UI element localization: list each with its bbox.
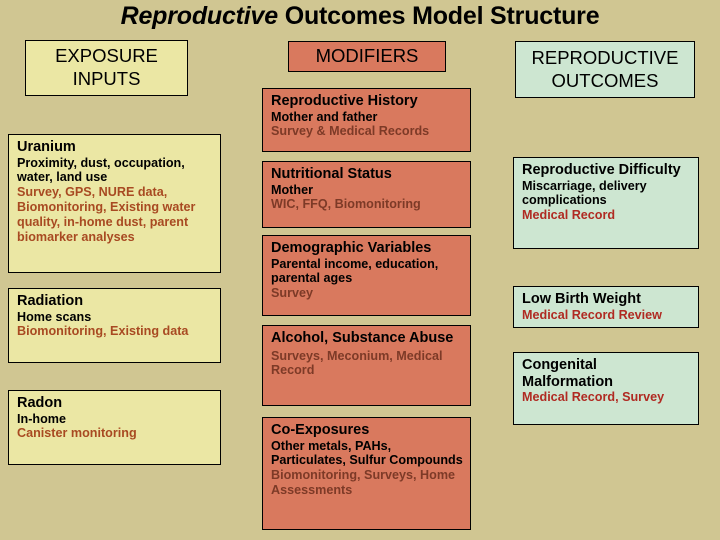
modifier-box-co-exposures-title: Co-Exposures xyxy=(271,422,463,439)
outcome-box-reproductive-difficulty-detail: Miscarriage, delivery complications xyxy=(522,179,691,209)
outcome-box-low-birth-weight-source: Medical Record Review xyxy=(522,308,691,323)
exposure-box-radiation-source: Biomonitoring, Existing data xyxy=(17,324,213,339)
modifier-box-alcohol-substance-abuse-source: Surveys, Meconium, Medical Record xyxy=(271,349,463,379)
modifier-box-nutritional-status-source: WIC, FFQ, Biomonitoring xyxy=(271,197,463,212)
page-title-emphasis: Reproductive xyxy=(121,2,278,30)
outcome-box-low-birth-weight-title: Low Birth Weight xyxy=(522,291,691,308)
header-modifiers[interactable]: MODIFIERS xyxy=(288,41,446,72)
modifier-box-alcohol-substance-abuse[interactable]: Alcohol, Substance Abuse Surveys, Meconi… xyxy=(262,325,471,406)
modifier-box-reproductive-history-title: Reproductive History xyxy=(271,93,463,110)
exposure-box-radon[interactable]: Radon In-home Canister monitoring xyxy=(8,390,221,465)
modifier-box-co-exposures[interactable]: Co-Exposures Other metals, PAHs, Particu… xyxy=(262,417,471,530)
modifier-box-nutritional-status-title: Nutritional Status xyxy=(271,166,463,183)
outcome-box-reproductive-difficulty-source: Medical Record xyxy=(522,208,691,223)
exposure-box-uranium-title: Uranium xyxy=(17,139,213,156)
outcome-box-reproductive-difficulty[interactable]: Reproductive Difficulty Miscarriage, del… xyxy=(513,157,699,249)
exposure-box-radiation-detail: Home scans xyxy=(17,310,213,325)
modifier-box-reproductive-history-source: Survey & Medical Records xyxy=(271,124,463,139)
exposure-box-radon-title: Radon xyxy=(17,395,213,412)
exposure-box-radon-source: Canister monitoring xyxy=(17,426,213,441)
modifier-box-demographic-variables-detail: Parental income, education, parental age… xyxy=(271,257,463,287)
exposure-box-radiation[interactable]: Radiation Home scans Biomonitoring, Exis… xyxy=(8,288,221,363)
page-title: Reproductive Outcomes Model Structure xyxy=(0,2,720,31)
header-reproductive-outcomes[interactable]: REPRODUCTIVE OUTCOMES xyxy=(515,41,695,98)
outcome-box-congenital-malformation-title: Congenital Malformation xyxy=(522,357,691,390)
modifier-box-alcohol-substance-abuse-title: Alcohol, Substance Abuse xyxy=(271,330,463,347)
modifier-box-demographic-variables-title: Demographic Variables xyxy=(271,240,463,257)
exposure-box-uranium-source: Survey, GPS, NURE data, Biomonitoring, E… xyxy=(17,185,213,244)
header-exposure-inputs[interactable]: EXPOSURE INPUTS xyxy=(25,40,188,96)
modifier-box-demographic-variables[interactable]: Demographic Variables Parental income, e… xyxy=(262,235,471,316)
modifier-box-reproductive-history-detail: Mother and father xyxy=(271,110,463,125)
outcome-box-congenital-malformation-source: Medical Record, Survey xyxy=(522,390,691,405)
outcome-box-reproductive-difficulty-title: Reproductive Difficulty xyxy=(522,162,691,179)
outcome-box-congenital-malformation[interactable]: Congenital Malformation Medical Record, … xyxy=(513,352,699,425)
header-exposure-inputs-label: EXPOSURE INPUTS xyxy=(26,45,187,91)
header-reproductive-outcomes-label: REPRODUCTIVE OUTCOMES xyxy=(516,47,694,93)
exposure-box-radiation-title: Radiation xyxy=(17,293,213,310)
exposure-box-uranium[interactable]: Uranium Proximity, dust, occupation, wat… xyxy=(8,134,221,273)
modifier-box-nutritional-status[interactable]: Nutritional Status Mother WIC, FFQ, Biom… xyxy=(262,161,471,228)
modifier-box-reproductive-history[interactable]: Reproductive History Mother and father S… xyxy=(262,88,471,152)
modifier-box-nutritional-status-detail: Mother xyxy=(271,183,463,198)
exposure-box-uranium-detail: Proximity, dust, occupation, water, land… xyxy=(17,156,213,186)
page-title-rest: Outcomes Model Structure xyxy=(278,2,599,30)
modifier-box-demographic-variables-source: Survey xyxy=(271,286,463,301)
slide-canvas: Reproductive Outcomes Model Structure EX… xyxy=(0,0,720,540)
modifier-box-co-exposures-detail: Other metals, PAHs, Particulates, Sulfur… xyxy=(271,439,463,469)
modifier-box-co-exposures-source: Biomonitoring, Surveys, Home Assessments xyxy=(271,468,463,498)
outcome-box-low-birth-weight[interactable]: Low Birth Weight Medical Record Review xyxy=(513,286,699,328)
exposure-box-radon-detail: In-home xyxy=(17,412,213,427)
header-modifiers-label: MODIFIERS xyxy=(316,45,419,68)
